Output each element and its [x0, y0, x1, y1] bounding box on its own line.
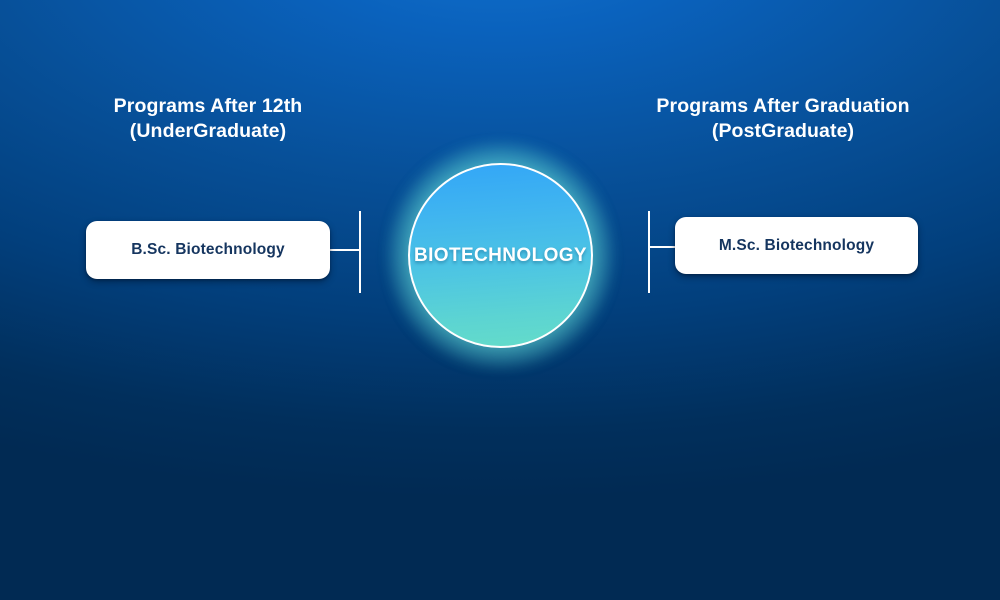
program-card-label: M.Sc. Biotechnology	[719, 237, 874, 255]
connector-vertical-right	[648, 211, 650, 293]
program-card-msc-biotechnology[interactable]: M.Sc. Biotechnology	[675, 217, 918, 274]
undergraduate-title-line-2: (UnderGraduate)	[58, 119, 358, 144]
connector-vertical-left	[359, 211, 361, 293]
postgraduate-column-title: Programs After Graduation (PostGraduate)	[633, 94, 933, 144]
program-card-label: B.Sc. Biotechnology	[131, 241, 285, 259]
hub-circle-biotechnology[interactable]: BIOTECHNOLOGY	[408, 163, 593, 348]
undergraduate-title-line-1: Programs After 12th	[114, 95, 303, 117]
diagram-canvas: Programs After 12th (UnderGraduate) Prog…	[0, 0, 1000, 600]
undergraduate-column-title: Programs After 12th (UnderGraduate)	[58, 94, 358, 144]
postgraduate-title-line-1: Programs After Graduation	[656, 95, 909, 117]
program-card-bsc-biotechnology[interactable]: B.Sc. Biotechnology	[86, 221, 330, 279]
hub-label: BIOTECHNOLOGY	[414, 245, 587, 267]
postgraduate-title-line-2: (PostGraduate)	[633, 119, 933, 144]
connector-horizontal-left	[325, 249, 361, 251]
